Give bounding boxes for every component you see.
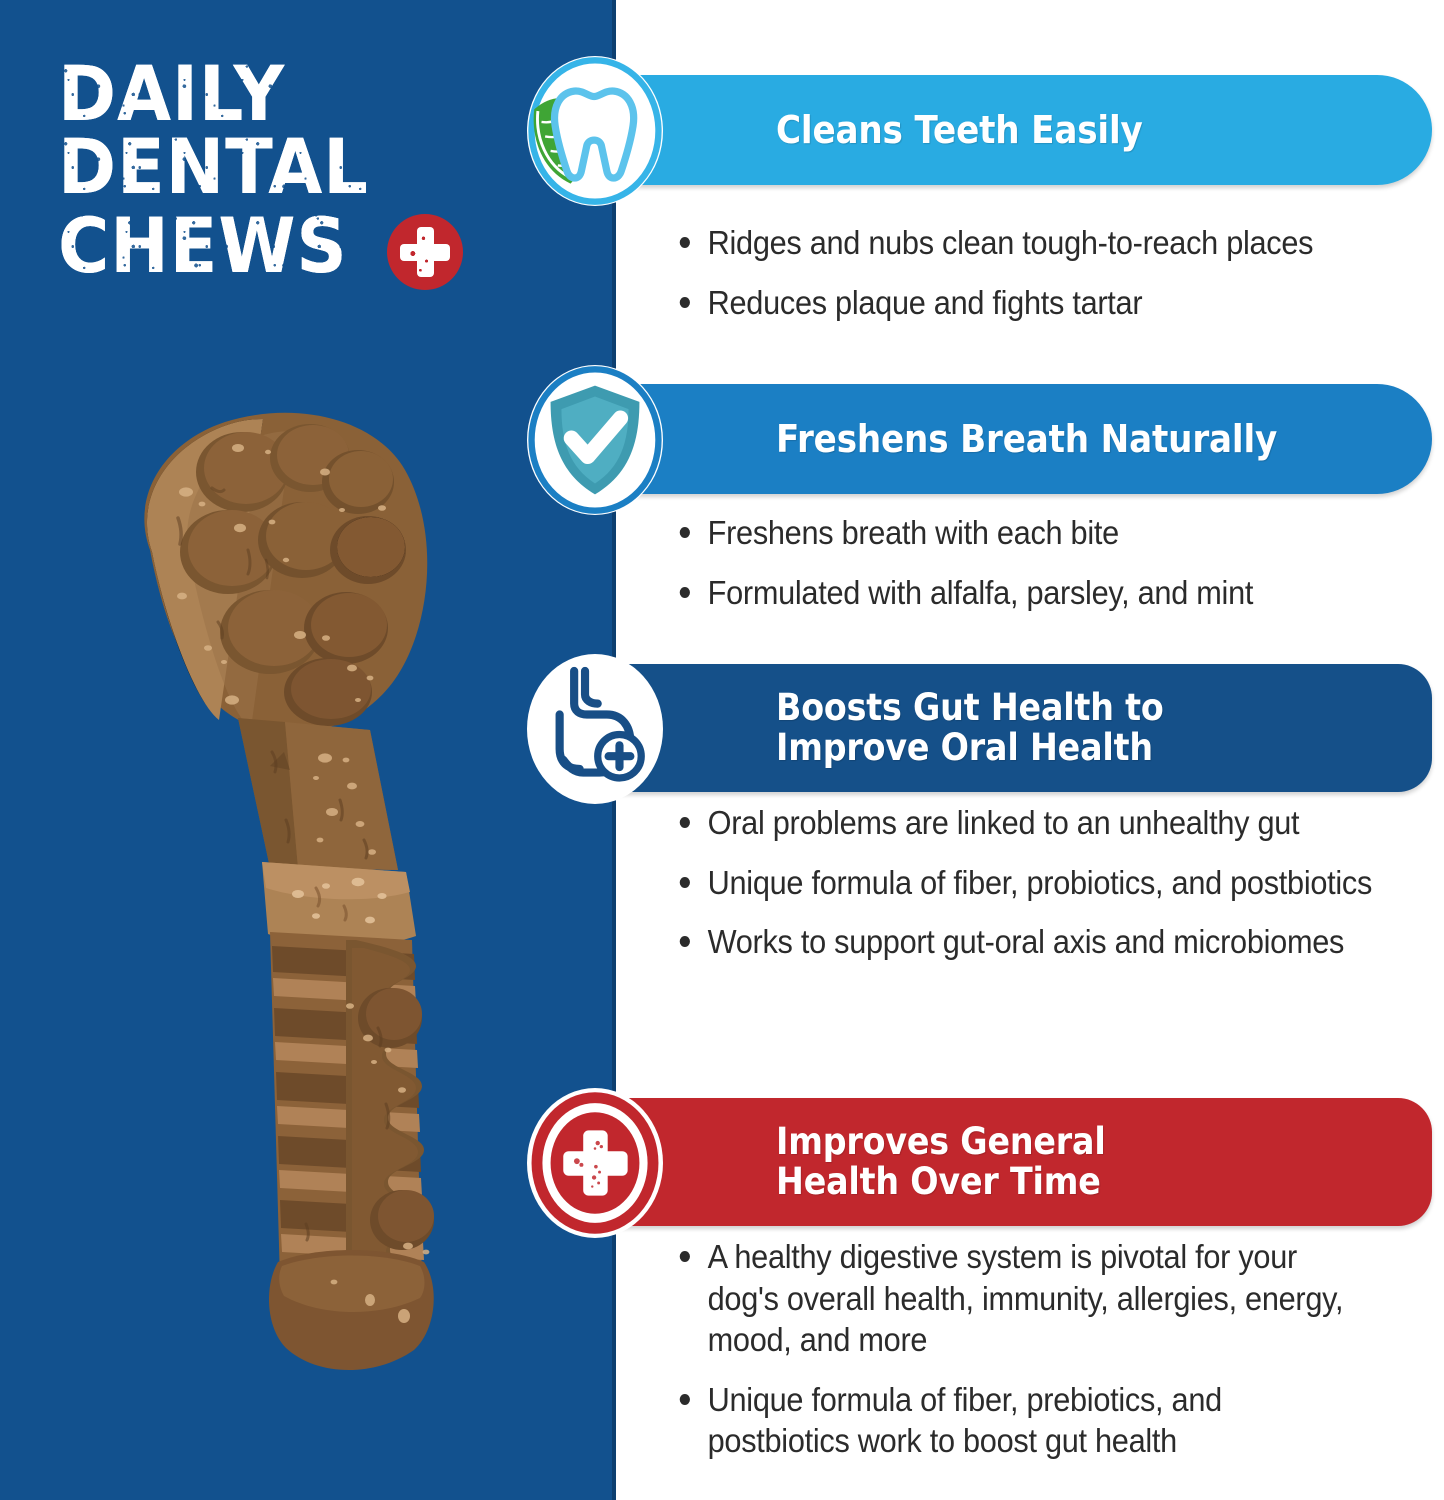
feature-bullets-improves-general-health: A healthy digestive system is pivotal fo… xyxy=(676,1236,1396,1480)
feature-banner-cleans-teeth[interactable]: Cleans Teeth Easily xyxy=(586,75,1432,185)
bullet-item: Works to support gut-oral axis and micro… xyxy=(676,921,1383,963)
bullet-item: Ridges and nubs clean tough-to-reach pla… xyxy=(676,222,1383,264)
feature-bullets-freshens-breath: Freshens breath with each bite Formulate… xyxy=(676,512,1436,631)
bullet-item: Unique formula of fiber, prebiotics, and… xyxy=(676,1379,1346,1462)
feature-heading: Freshens Breath Naturally xyxy=(776,420,1277,459)
medical-cross-circle-icon xyxy=(527,1088,663,1238)
stomach-plus-icon xyxy=(527,654,663,804)
feature-banner-freshens-breath[interactable]: Freshens Breath Naturally xyxy=(586,384,1432,494)
infographic-page: DAILY DENTAL CHEWS xyxy=(0,0,1444,1500)
feature-heading: Boosts Gut Health to Improve Oral Health xyxy=(776,688,1164,767)
feature-heading: Cleans Teeth Easily xyxy=(776,111,1143,150)
feature-banner-improves-general-health[interactable]: Improves General Health Over Time xyxy=(586,1098,1432,1226)
feature-bullets-boosts-gut-health: Oral problems are linked to an unhealthy… xyxy=(676,802,1436,981)
bullet-item: A healthy digestive system is pivotal fo… xyxy=(676,1236,1346,1361)
shield-check-icon xyxy=(527,365,663,515)
features-column: Cleans Teeth Easily xyxy=(0,0,1444,1500)
bullet-item: Unique formula of fiber, probiotics, and… xyxy=(676,862,1383,904)
bullet-item: Freshens breath with each bite xyxy=(676,512,1383,554)
feature-banner-boosts-gut-health[interactable]: Boosts Gut Health to Improve Oral Health xyxy=(586,664,1432,792)
feature-heading: Improves General Health Over Time xyxy=(776,1122,1106,1201)
bullet-item: Formulated with alfalfa, parsley, and mi… xyxy=(676,572,1383,614)
bullet-item: Oral problems are linked to an unhealthy… xyxy=(676,802,1383,844)
feature-bullets-cleans-teeth: Ridges and nubs clean tough-to-reach pla… xyxy=(676,222,1436,341)
bullet-item: Reduces plaque and fights tartar xyxy=(676,282,1383,324)
tooth-mint-leaf-icon xyxy=(527,56,663,206)
